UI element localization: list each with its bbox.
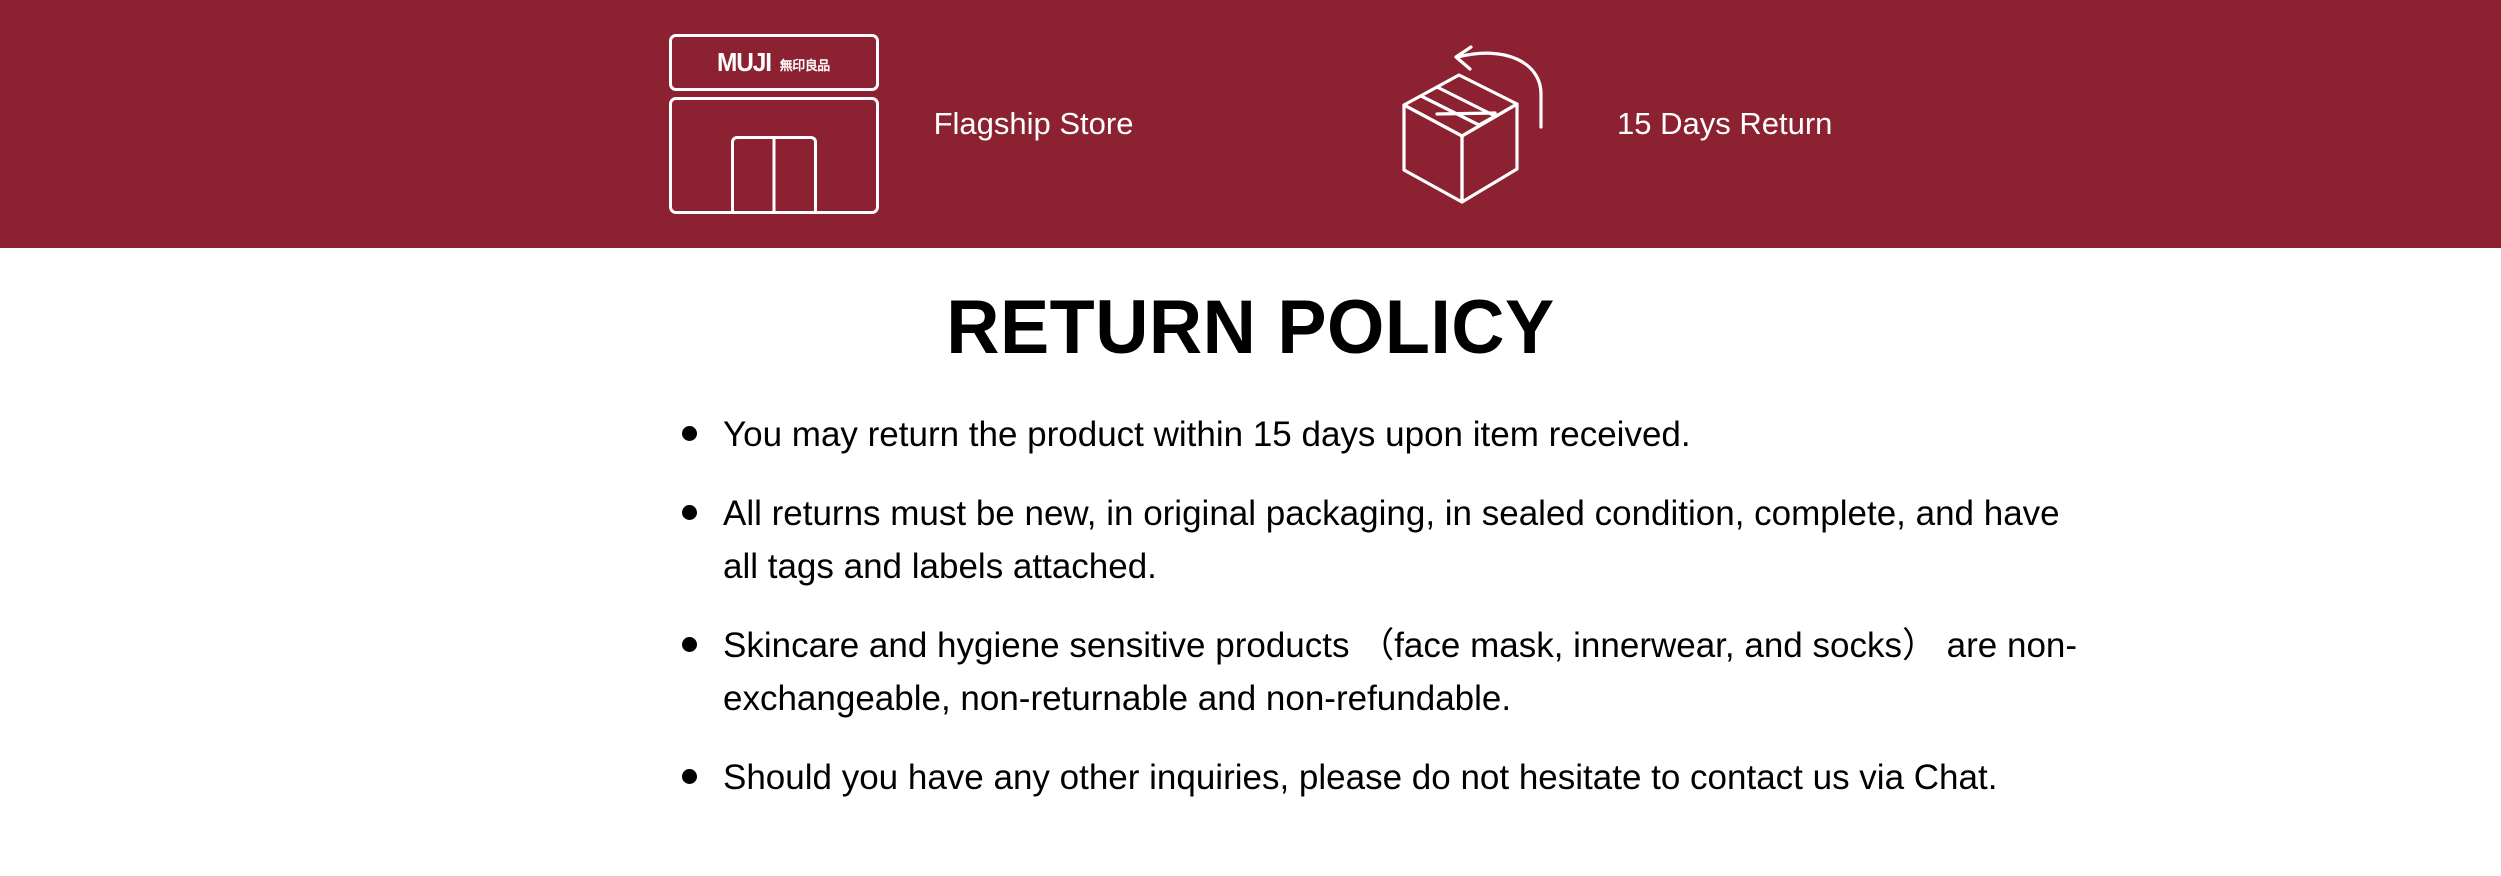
banner-content: MUJI 無印良品 MUJI Official Flagship Store 1…: [0, 0, 2501, 248]
policy-item-text: Should you have any other inquiries, ple…: [723, 751, 2082, 805]
page-title: RETURN POLICY: [38, 248, 2464, 366]
policy-list-item: All returns must be new, in original pac…: [682, 487, 2082, 594]
policy-content: RETURN POLICY You may return the product…: [0, 248, 2501, 876]
storefront-body: [669, 97, 879, 214]
muji-logo-cjk: 無印良品: [780, 60, 830, 75]
muji-storefront-icon: MUJI 無印良品: [669, 34, 879, 214]
return-feature-label: 15 Days Return: [1617, 105, 1832, 142]
bullet-icon: [682, 637, 697, 652]
store-feature-line-2: Flagship Store: [934, 100, 1149, 147]
policy-list-item: You may return the product within 15 day…: [682, 408, 2082, 462]
return-feature: 15 Days Return: [1399, 42, 1832, 207]
policy-list-item: Skincare and hygiene sensitive products …: [682, 619, 2082, 726]
storefront-signboard: MUJI 無印良品: [669, 34, 879, 91]
storefront-doors: [731, 136, 817, 214]
promo-banner: MUJI 無印良品 MUJI Official Flagship Store 1…: [0, 0, 2501, 248]
muji-logo: MUJI 無印良品: [717, 49, 829, 75]
policy-list: You may return the product within 15 day…: [682, 408, 2082, 804]
store-feature-line-1: MUJI Official: [934, 0, 1149, 6]
bullet-icon: [682, 769, 697, 784]
policy-item-text: You may return the product within 15 day…: [723, 408, 2082, 462]
return-policy-page: MUJI 無印良品 MUJI Official Flagship Store 1…: [0, 0, 2501, 876]
policy-list-item: Should you have any other inquiries, ple…: [682, 751, 2082, 805]
policy-item-text: Skincare and hygiene sensitive products …: [723, 619, 2082, 726]
bullet-icon: [682, 505, 697, 520]
policy-item-text: All returns must be new, in original pac…: [723, 487, 2082, 594]
muji-logo-latin: MUJI: [717, 49, 771, 75]
return-box-icon: [1399, 42, 1579, 207]
storefront-door-divider: [772, 139, 775, 214]
bullet-icon: [682, 426, 697, 441]
